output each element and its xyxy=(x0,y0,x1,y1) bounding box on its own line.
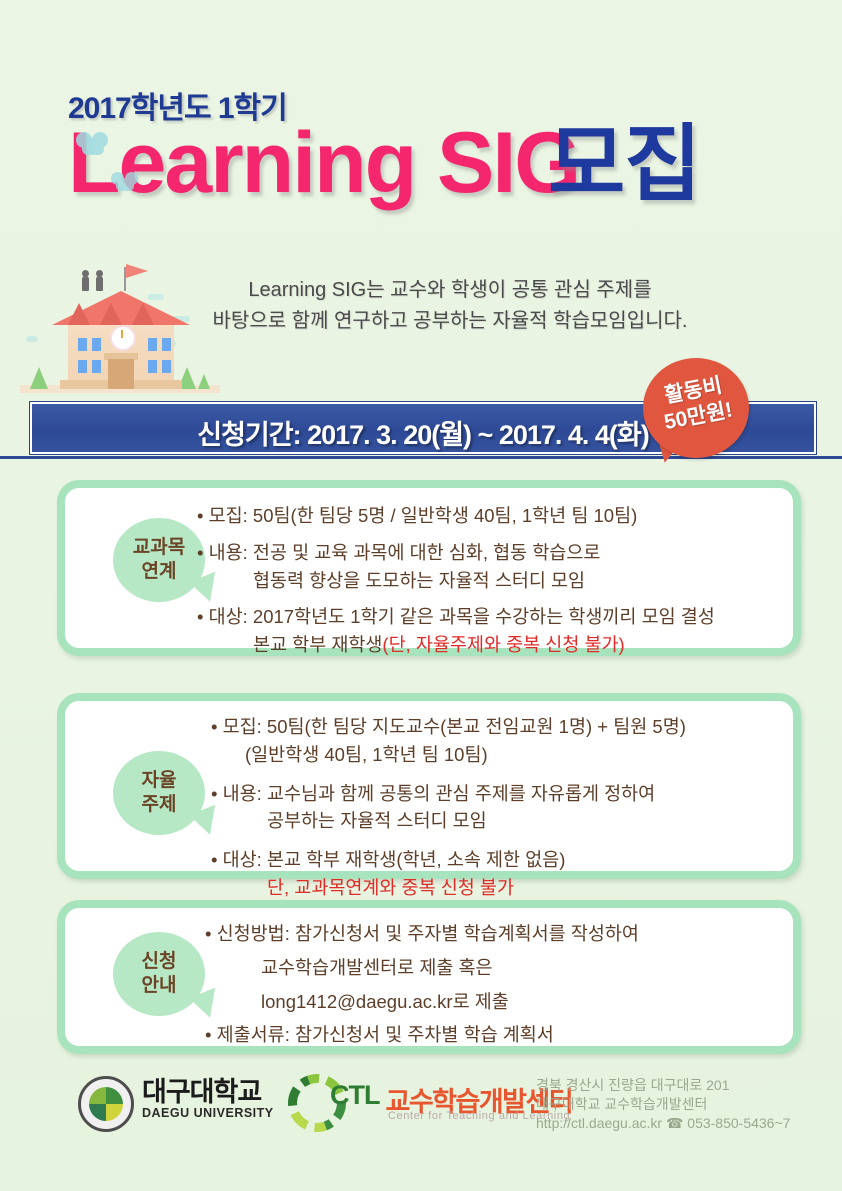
window-icon xyxy=(92,338,101,351)
card-label-line-2: 주제 xyxy=(142,793,177,817)
card-line: (일반학생 40팀, 1학년 팀 10팀) xyxy=(211,741,771,769)
daegu-university-wordmark: 대구대학교 DAEGU UNIVERSITY xyxy=(142,1078,274,1120)
card-body: • 신청방법: 참가신청서 및 주자별 학습계획서를 작성하여 교수학습개발센터… xyxy=(205,920,765,1049)
page-title-main: Learning SIG xyxy=(68,120,579,206)
card-body: • 모집: 50팀(한 팀당 지도교수(본교 전임교원 1명) + 팀원 5명)… xyxy=(211,713,771,902)
page-title: Learning SIG 모집 xyxy=(60,120,820,230)
stipend-badge: 활동비 50만원! xyxy=(643,358,749,458)
footer-address: 경북 경산시 진량읍 대구대로 201 대구대학교 교수학습개발센터 http:… xyxy=(536,1076,790,1133)
window-icon xyxy=(148,338,157,351)
card-label-bubble: 자율 주제 xyxy=(113,751,205,835)
ctl-abbr: CTL xyxy=(330,1080,379,1111)
clock-icon xyxy=(110,325,136,351)
window-icon xyxy=(148,360,157,373)
address-line-1: 경북 경산시 진량읍 대구대로 201 xyxy=(536,1076,790,1095)
daegu-university-logo-icon xyxy=(78,1076,134,1132)
roof-notch xyxy=(68,303,90,325)
flag-icon xyxy=(126,264,148,278)
intro-line-1: Learning SIG는 교수와 학생이 공통 관심 주제를 xyxy=(150,275,750,306)
card-line: 교수학습개발센터로 제출 혹은 xyxy=(205,954,765,982)
door-icon xyxy=(108,359,134,389)
address-line-3[interactable]: http://ctl.daegu.ac.kr ☎ 053-850-5436~7 xyxy=(536,1114,790,1133)
card-label-text: 자율 주제 xyxy=(142,769,177,817)
address-line-2: 대구대학교 교수학습개발센터 xyxy=(536,1095,790,1114)
card-line: • 내용: 교수님과 함께 공통의 관심 주제를 자유롭게 정하여 xyxy=(211,780,771,808)
card-label-line-1: 교과목 xyxy=(133,536,185,560)
card-how-to-apply: 신청 안내 • 신청방법: 참가신청서 및 주자별 학습계획서를 작성하여 교수… xyxy=(57,900,801,1054)
cloud-icon xyxy=(26,336,38,342)
window-icon xyxy=(78,360,87,373)
heart-icon xyxy=(82,139,104,155)
card-line: • 모집: 50팀(한 팀당 5명 / 일반학생 40팀, 1학년 팀 10팀) xyxy=(197,502,757,530)
intro-text: Learning SIG는 교수와 학생이 공통 관심 주제를 바탕으로 함께 … xyxy=(150,275,750,337)
card-line: 협동력 향상을 도모하는 자율적 스터디 모임 xyxy=(197,567,757,595)
tree-icon xyxy=(30,367,48,389)
du-name-en: DAEGU UNIVERSITY xyxy=(142,1106,274,1120)
card-label-line-2: 안내 xyxy=(142,974,177,998)
roof-notch xyxy=(100,303,122,325)
card-label-line-1: 신청 xyxy=(142,950,177,974)
card-label-text: 교과목 연계 xyxy=(133,536,185,584)
window-icon xyxy=(162,338,171,351)
window-icon xyxy=(78,338,87,351)
card-line: 공부하는 자율적 스터디 모임 xyxy=(211,807,771,835)
window-icon xyxy=(162,360,171,373)
card-line: • 내용: 전공 및 교육 과목에 대한 심화, 협동 학습으로 xyxy=(197,539,757,567)
card-line-mixed: 본교 학부 재학생(단, 자율주제와 중복 신청 불가) xyxy=(197,631,757,659)
card-line: • 모집: 50팀(한 팀당 지도교수(본교 전임교원 1명) + 팀원 5명) xyxy=(211,713,771,741)
tree-icon xyxy=(198,374,210,389)
poster-root: 2017학년도 1학기 Learning SIG 모집 xyxy=(0,0,842,1191)
card-label-bubble: 교과목 연계 xyxy=(113,518,205,602)
card-line-email[interactable]: long1412@daegu.ac.kr로 제출 xyxy=(205,988,765,1016)
page-title-sub: 모집 xyxy=(548,122,701,206)
card-label-bubble: 신청 안내 xyxy=(113,932,205,1016)
card-label-line-1: 자율 xyxy=(142,769,177,793)
card-line-plain: 본교 학부 재학생 xyxy=(253,634,382,655)
heart-icon xyxy=(116,178,134,191)
window-icon xyxy=(92,360,101,373)
card-line: • 대상: 2017학년도 1학기 같은 과목을 수강하는 학생끼리 모임 결성 xyxy=(197,603,757,631)
footer: 대구대학교 DAEGU UNIVERSITY CTL교수학습개발센터 Cente… xyxy=(0,1068,842,1158)
person-icon xyxy=(82,276,89,291)
card-body: • 모집: 50팀(한 팀당 5명 / 일반학생 40팀, 1학년 팀 10팀)… xyxy=(197,502,757,659)
card-line: • 제출서류: 참가신청서 및 주차별 학습 계획서 xyxy=(205,1021,765,1049)
card-line-highlight: 단, 교과목연계와 중복 신청 불가 xyxy=(211,874,771,902)
card-line-highlight: (단, 자율주제와 중복 신청 불가) xyxy=(382,634,624,655)
person-icon xyxy=(96,276,103,291)
intro-line-2: 바탕으로 함께 연구하고 공부하는 자율적 학습모임입니다. xyxy=(150,306,750,337)
card-line: • 대상: 본교 학부 재학생(학년, 소속 제한 없음) xyxy=(211,846,771,874)
card-label-line-2: 연계 xyxy=(133,560,185,584)
card-free-topic: 자율 주제 • 모집: 50팀(한 팀당 지도교수(본교 전임교원 1명) + … xyxy=(57,693,801,879)
card-subject-linked: 교과목 연계 • 모집: 50팀(한 팀당 5명 / 일반학생 40팀, 1학년… xyxy=(57,480,801,656)
card-label-text: 신청 안내 xyxy=(142,950,177,998)
du-name-ko: 대구대학교 xyxy=(142,1078,274,1106)
card-line: • 신청방법: 참가신청서 및 주자별 학습계획서를 작성하여 xyxy=(205,920,765,948)
